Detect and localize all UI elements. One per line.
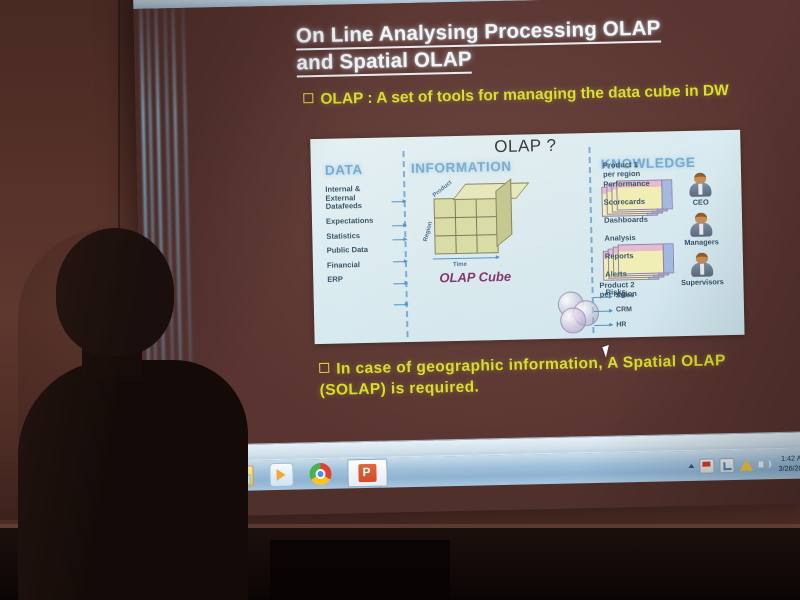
column-header-data: DATA [325, 162, 363, 178]
person-icon [688, 172, 713, 197]
google-chrome-icon[interactable] [309, 463, 331, 485]
avatar-managers: Managers [670, 212, 733, 247]
action-center-flag-icon[interactable] [699, 458, 714, 473]
arrow-icon [394, 304, 408, 305]
bullet-square-icon [319, 363, 329, 373]
axis-label-region: Region [423, 221, 434, 242]
system-tray: 1:42 AM 3/26/2018 [688, 454, 800, 476]
clock[interactable]: 1:42 AM 3/26/2018 [775, 454, 800, 474]
list-item: Risks [606, 286, 668, 296]
sphere-label-hr: HR [616, 321, 626, 328]
avatar-supervisors: Supervisors [671, 252, 734, 287]
list-item: Internal &ExternalDatafeeds [325, 184, 400, 212]
data-sources-list: Internal &ExternalDatafeeds Expectations… [325, 184, 401, 289]
clock-date: 3/26/2018 [778, 463, 800, 473]
role-label: Managers [670, 237, 732, 247]
list-item: Alerts [605, 268, 667, 278]
olap-cube-figure: Product Region Time OLAP Cube [415, 182, 527, 294]
warning-icon[interactable] [739, 459, 753, 470]
axis-label-product: Product [432, 180, 453, 199]
title-line-1: On Line Analysing Processing OLAP [296, 17, 661, 51]
title-line-2: and Spatial OLAP [296, 48, 472, 78]
arrow-icon [594, 311, 612, 313]
list-item: Expectations [326, 215, 400, 226]
photo-of-projected-presentation: On Line Analysing Processing OLAP and Sp… [0, 0, 800, 600]
roles-avatars: CEO Managers Supervisors [669, 172, 734, 293]
product-1-label: Product 1per region [603, 160, 641, 179]
presenter-silhouette [18, 228, 248, 600]
person-icon [690, 252, 715, 277]
cube-side-face [495, 178, 512, 247]
bullet-item-solap: In case of geographic information, A Spa… [319, 350, 790, 402]
person-icon [689, 212, 714, 237]
arrow-icon [393, 261, 407, 262]
cube-caption: OLAP Cube [423, 268, 527, 285]
page-title: On Line Analysing Processing OLAP and Sp… [296, 12, 777, 77]
list-item: Analysis [604, 232, 666, 242]
network-icon[interactable] [719, 457, 734, 472]
volume-icon[interactable] [758, 458, 770, 470]
bullet-square-icon [303, 93, 313, 103]
cube-top-face [452, 182, 529, 200]
list-item: Public Data [327, 244, 401, 255]
furniture-shadow [270, 540, 450, 600]
list-item: Scorecards [604, 196, 666, 206]
arrow-icon [392, 239, 406, 240]
windows-media-player-icon[interactable] [269, 463, 294, 488]
role-label: CEO [670, 197, 732, 207]
silhouette-shading [18, 228, 248, 600]
arrow-icon [393, 283, 407, 284]
list-item: Financial [327, 259, 401, 270]
clock-time: 1:42 AM [778, 454, 800, 464]
axis-label-time: Time [453, 262, 467, 268]
arrow-icon [594, 325, 612, 327]
powerpoint-icon [358, 464, 376, 482]
list-item: Dashboards [604, 214, 666, 224]
show-hidden-icons-icon[interactable] [688, 464, 694, 468]
sphere-icon [560, 307, 587, 334]
arrow-icon [392, 225, 406, 226]
list-item: ERP [327, 273, 401, 284]
bullet-1-text: OLAP : A set of tools for managing the d… [320, 82, 729, 108]
bullet-item-olap: OLAP : A set of tools for managing the d… [303, 80, 775, 111]
sphere-label-crm: CRM [616, 306, 632, 313]
cube-icon [434, 197, 499, 254]
list-item: Reports [605, 250, 667, 260]
arrow-icon [392, 201, 406, 202]
knowledge-list: Performance Scorecards Dashboards Analys… [603, 178, 668, 305]
role-label: Supervisors [671, 277, 733, 287]
bullet-2-text: In case of geographic information, A Spa… [320, 352, 726, 399]
powerpoint-taskbar-button[interactable] [347, 459, 388, 488]
avatar-ceo: CEO [669, 172, 732, 207]
list-item: Performance [603, 178, 665, 188]
olap-diagram: OLAP ? DATA INFORMATION KNOWLEDGE Intern… [310, 130, 744, 344]
column-header-information: INFORMATION [411, 159, 512, 176]
list-item: Statistics [326, 230, 400, 241]
axis-line-time [433, 257, 499, 259]
data-flow-arrows [391, 187, 412, 327]
